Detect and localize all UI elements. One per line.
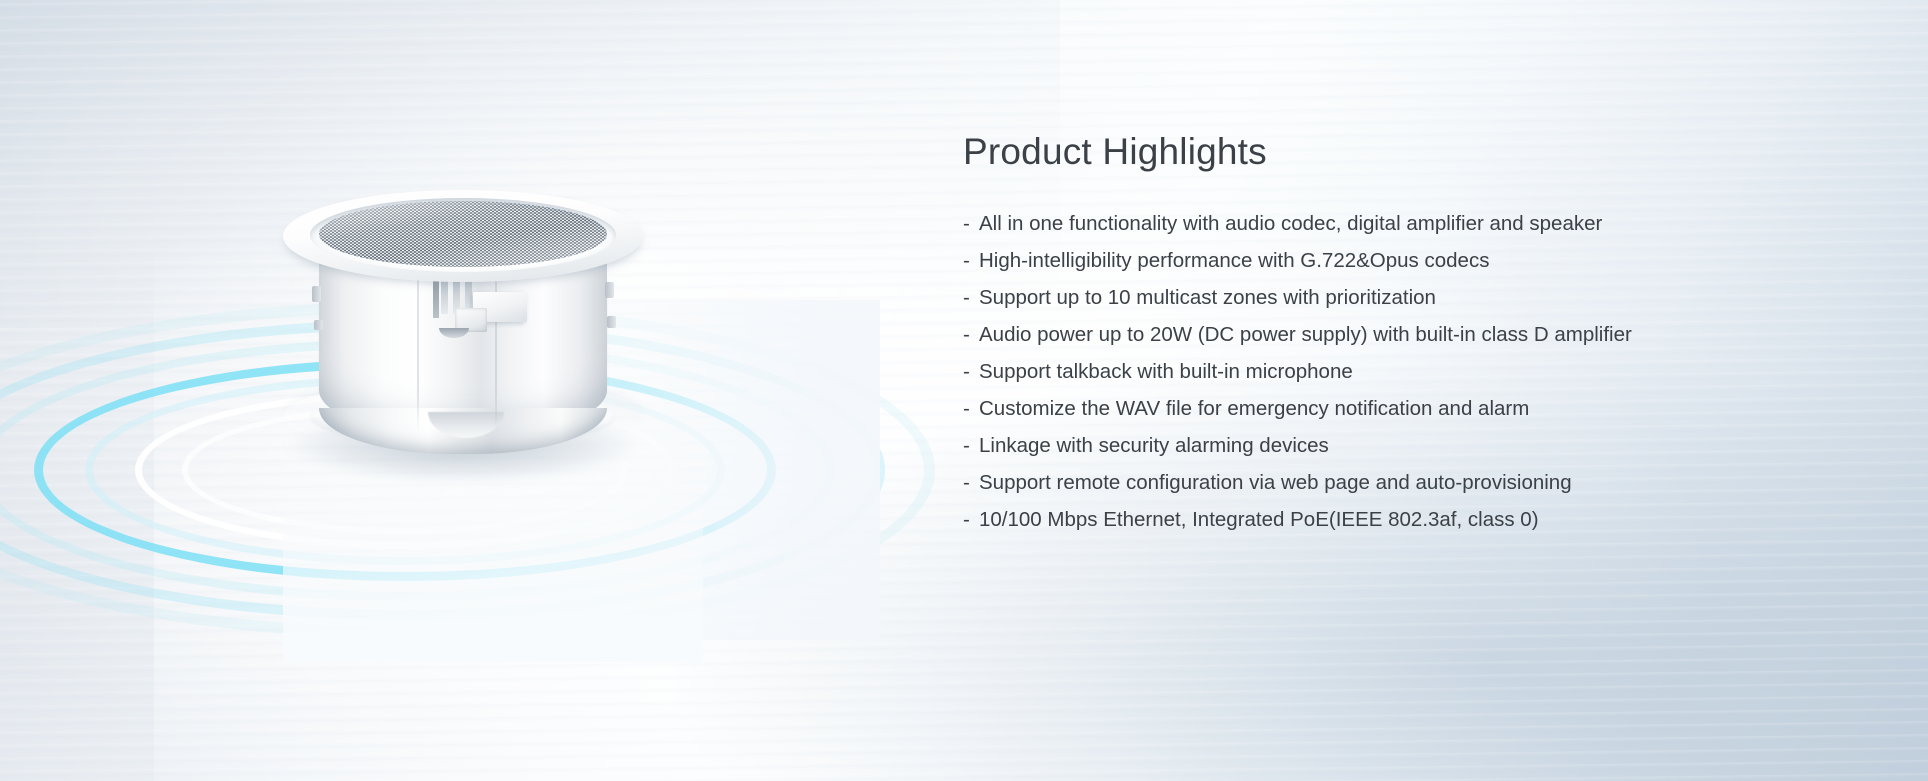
bullet-dash: - <box>963 325 970 346</box>
highlight-text: Support remote configuration via web pag… <box>979 471 1572 494</box>
bullet-dash: - <box>963 473 970 494</box>
highlight-text: All in one functionality with audio code… <box>979 212 1602 235</box>
speaker-grille-mesh <box>319 201 607 267</box>
highlight-text: Support up to 10 multicast zones with pr… <box>979 286 1436 309</box>
bullet-dash: - <box>963 436 970 457</box>
product-highlights-banner: Product Highlights -All in one functiona… <box>0 0 1928 781</box>
highlight-item: -Linkage with security alarming devices <box>963 436 1863 457</box>
highlight-item: -All in one functionality with audio cod… <box>963 214 1863 235</box>
bullet-dash: - <box>963 362 970 383</box>
mounting-clip-right-upper <box>605 282 614 298</box>
bullet-dash: - <box>963 510 970 531</box>
highlight-item: -Audio power up to 20W (DC power supply)… <box>963 325 1863 346</box>
mounting-clip-right-lower <box>607 316 616 328</box>
mounting-clip-left-lower <box>314 320 323 330</box>
highlight-item: -High-intelligibility performance with G… <box>963 251 1863 272</box>
highlight-item: -Support talkback with built-in micropho… <box>963 362 1863 383</box>
highlight-text: Linkage with security alarming devices <box>979 434 1329 457</box>
highlight-text: Support talkback with built-in microphon… <box>979 360 1353 383</box>
highlights-list: -All in one functionality with audio cod… <box>963 214 1863 531</box>
ceiling-speaker-image <box>283 190 643 460</box>
highlight-text: Audio power up to 20W (DC power supply) … <box>979 323 1632 346</box>
bullet-dash: - <box>963 399 970 420</box>
highlight-item: -Support up to 10 multicast zones with p… <box>963 288 1863 309</box>
copy-block: Product Highlights -All in one functiona… <box>963 133 1863 547</box>
highlight-item: -10/100 Mbps Ethernet, Integrated PoE(IE… <box>963 510 1863 531</box>
highlight-text: 10/100 Mbps Ethernet, Integrated PoE(IEE… <box>979 508 1539 531</box>
mounting-clip-left-upper <box>312 286 321 302</box>
bullet-dash: - <box>963 251 970 272</box>
highlight-text: High-intelligibility performance with G.… <box>979 249 1489 272</box>
bullet-dash: - <box>963 288 970 309</box>
page-title: Product Highlights <box>963 133 1863 170</box>
highlight-item: -Support remote configuration via web pa… <box>963 473 1863 494</box>
highlight-text: Customize the WAV file for emergency not… <box>979 397 1529 420</box>
bullet-dash: - <box>963 214 970 235</box>
highlight-item: -Customize the WAV file for emergency no… <box>963 399 1863 420</box>
reflection-fade-mask <box>283 452 703 662</box>
